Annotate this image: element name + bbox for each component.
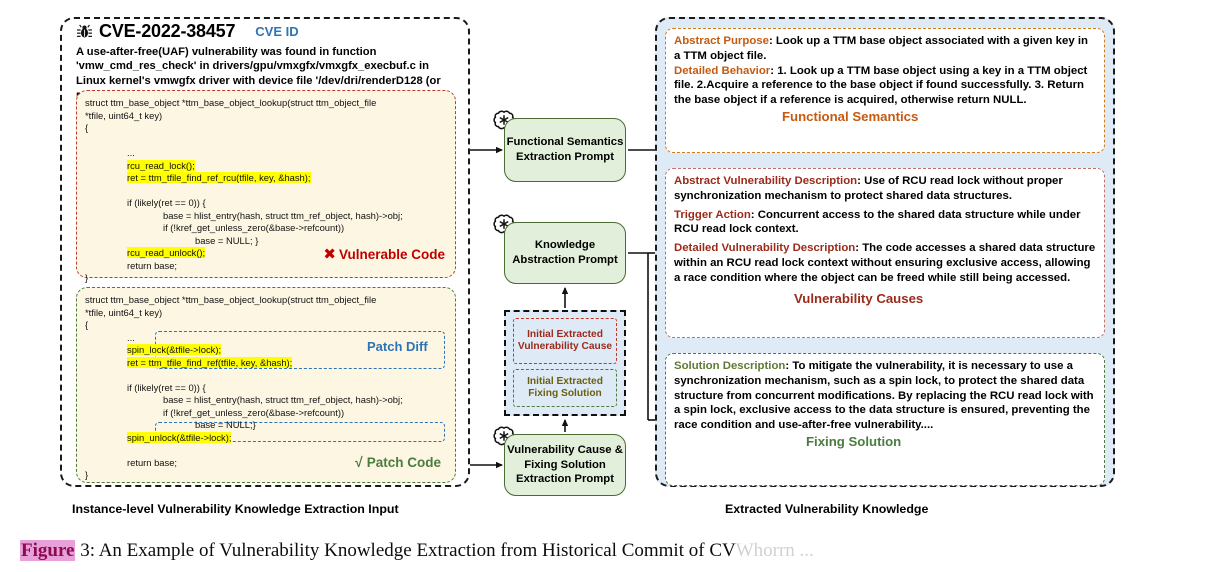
code-line: if (likely(ret == 0)) { xyxy=(85,382,447,395)
output-functional-semantics: Abstract Purpose: Look up a TTM base obj… xyxy=(665,28,1105,153)
output-functional-tag: Functional Semantics xyxy=(782,109,918,124)
output-paragraph: Solution Description: To mitigate the vu… xyxy=(674,359,1096,433)
figure-label: Figure xyxy=(20,540,75,561)
code-line xyxy=(85,135,447,148)
code-highlight: spin_unlock(&tfile->lock); xyxy=(127,432,231,443)
output-paragraph: Abstract Vulnerability Description: Use … xyxy=(674,174,1096,204)
cross-icon: ✖ xyxy=(323,246,336,263)
code-line: if (!kref_get_unless_zero(&base->refcoun… xyxy=(85,407,447,420)
code-line: *tfile, uint64_t key) xyxy=(85,110,447,123)
code-line: if (!kref_get_unless_zero(&base->refcoun… xyxy=(85,222,447,235)
check-icon: √ xyxy=(355,454,363,470)
initial-fix-label: Initial Extracted Fixing Solution xyxy=(516,376,614,401)
code-highlight: ret = ttm_tfile_find_ref_rcu(tfile, key,… xyxy=(127,172,311,183)
prompt-functional-label: Functional Semantics Extraction Prompt xyxy=(505,135,625,165)
code-highlight: rcu_read_unlock(); xyxy=(127,247,205,258)
output-paragraph: Detailed Vulnerability Description: The … xyxy=(674,241,1096,285)
code-line: ret = ttm_tfile_find_ref(tfile, key, &ha… xyxy=(85,357,447,370)
initial-cause-label: Initial Extracted Vulnerability Cause xyxy=(516,329,614,354)
initial-extracted-fixing-solution: Initial Extracted Fixing Solution xyxy=(513,369,617,407)
caption-input: Instance-level Vulnerability Knowledge E… xyxy=(72,502,399,516)
vulnerable-code-tag: ✖Vulnerable Code xyxy=(323,245,445,265)
prompt-cause-label: Vulnerability Cause & Fixing Solution Ex… xyxy=(505,443,625,488)
code-line: { xyxy=(85,122,447,135)
code-line: ... xyxy=(85,147,447,160)
vulnerable-code-tag-label: Vulnerable Code xyxy=(339,247,445,262)
output-paragraph: Trigger Action: Concurrent access to the… xyxy=(674,208,1096,238)
prompt-cause-fixing[interactable]: Vulnerability Cause & Fixing Solution Ex… xyxy=(504,434,626,496)
code-line: spin_unlock(&tfile->lock); xyxy=(85,432,447,445)
code-line xyxy=(85,185,447,198)
output-key: Abstract Vulnerability Description xyxy=(674,175,857,187)
figure-caption-text: 3: An Example of Vulnerability Knowledge… xyxy=(75,540,735,561)
code-highlight: spin_lock(&tfile->lock); xyxy=(127,344,221,355)
code-line: spin_lock(&tfile->lock); xyxy=(85,344,447,357)
code-line: *tfile, uint64_t key) xyxy=(85,307,447,320)
output-vulnerability-causes: Abstract Vulnerability Description: Use … xyxy=(665,168,1105,338)
cve-id: CVE-2022-38457 xyxy=(99,21,235,42)
output-key: Solution Description xyxy=(674,360,785,372)
output-paragraph: Abstract Purpose: Look up a TTM base obj… xyxy=(674,34,1096,64)
code-line: base = NULL;} xyxy=(85,419,447,432)
output-key: Abstract Purpose xyxy=(674,35,769,47)
code-line: { xyxy=(85,319,447,332)
output-fixing-solution: Solution Description: To mitigate the vu… xyxy=(665,353,1105,486)
caption-output: Extracted Vulnerability Knowledge xyxy=(725,502,928,516)
output-key: Trigger Action xyxy=(674,209,751,221)
output-key: Detailed Behavior xyxy=(674,65,770,77)
bug-icon xyxy=(76,23,93,40)
output-fixing-body: Solution Description: To mitigate the vu… xyxy=(674,359,1096,433)
initial-extracted-vulnerability-cause: Initial Extracted Vulnerability Cause xyxy=(513,318,617,364)
prompt-knowledge-abstraction[interactable]: Knowledge Abstraction Prompt xyxy=(504,222,626,284)
vulnerable-code-box: struct ttm_base_object *ttm_base_object_… xyxy=(76,90,456,278)
output-paragraph: Detailed Behavior: 1. Look up a TTM base… xyxy=(674,64,1096,108)
code-highlight: ret = ttm_tfile_find_ref(tfile, key, &ha… xyxy=(127,357,292,368)
output-causes-body: Abstract Vulnerability Description: Use … xyxy=(674,174,1096,286)
code-line: ret = ttm_tfile_find_ref_rcu(tfile, key,… xyxy=(85,172,447,185)
patch-code-box: Patch Diff struct ttm_base_object *ttm_b… xyxy=(76,287,456,483)
prompt-functional-semantics[interactable]: Functional Semantics Extraction Prompt xyxy=(504,118,626,182)
output-fixing-tag: Fixing Solution xyxy=(806,434,901,449)
output-key: Detailed Vulnerability Description xyxy=(674,242,855,254)
code-line: } xyxy=(85,272,447,285)
code-highlight: rcu_read_lock(); xyxy=(127,160,195,171)
code-line: base = hlist_entry(hash, struct ttm_ref_… xyxy=(85,210,447,223)
code-line: if (likely(ret == 0)) { xyxy=(85,197,447,210)
prompt-knowledge-label: Knowledge Abstraction Prompt xyxy=(505,238,625,268)
code-line: struct ttm_base_object *ttm_base_object_… xyxy=(85,294,447,307)
code-line xyxy=(85,369,447,382)
code-line: base = hlist_entry(hash, struct ttm_ref_… xyxy=(85,394,447,407)
output-causes-tag: Vulnerability Causes xyxy=(794,291,923,306)
initial-extracted-group: Initial Extracted Vulnerability Cause In… xyxy=(504,310,626,416)
code-line: ... xyxy=(85,332,447,345)
figure-caption-faded: Whorrn ... xyxy=(736,540,814,561)
patch-code-tag-label: Patch Code xyxy=(367,455,441,470)
figure-caption: Figure 3: An Example of Vulnerability Kn… xyxy=(20,540,814,562)
patch-code-tag: √Patch Code xyxy=(355,453,441,472)
cve-id-row: CVE-2022-38457 CVE ID xyxy=(76,21,456,42)
cve-id-label: CVE ID xyxy=(255,24,298,39)
code-line: rcu_read_lock(); xyxy=(85,160,447,173)
output-functional-body: Abstract Purpose: Look up a TTM base obj… xyxy=(674,34,1096,108)
code-line: struct ttm_base_object *ttm_base_object_… xyxy=(85,97,447,110)
